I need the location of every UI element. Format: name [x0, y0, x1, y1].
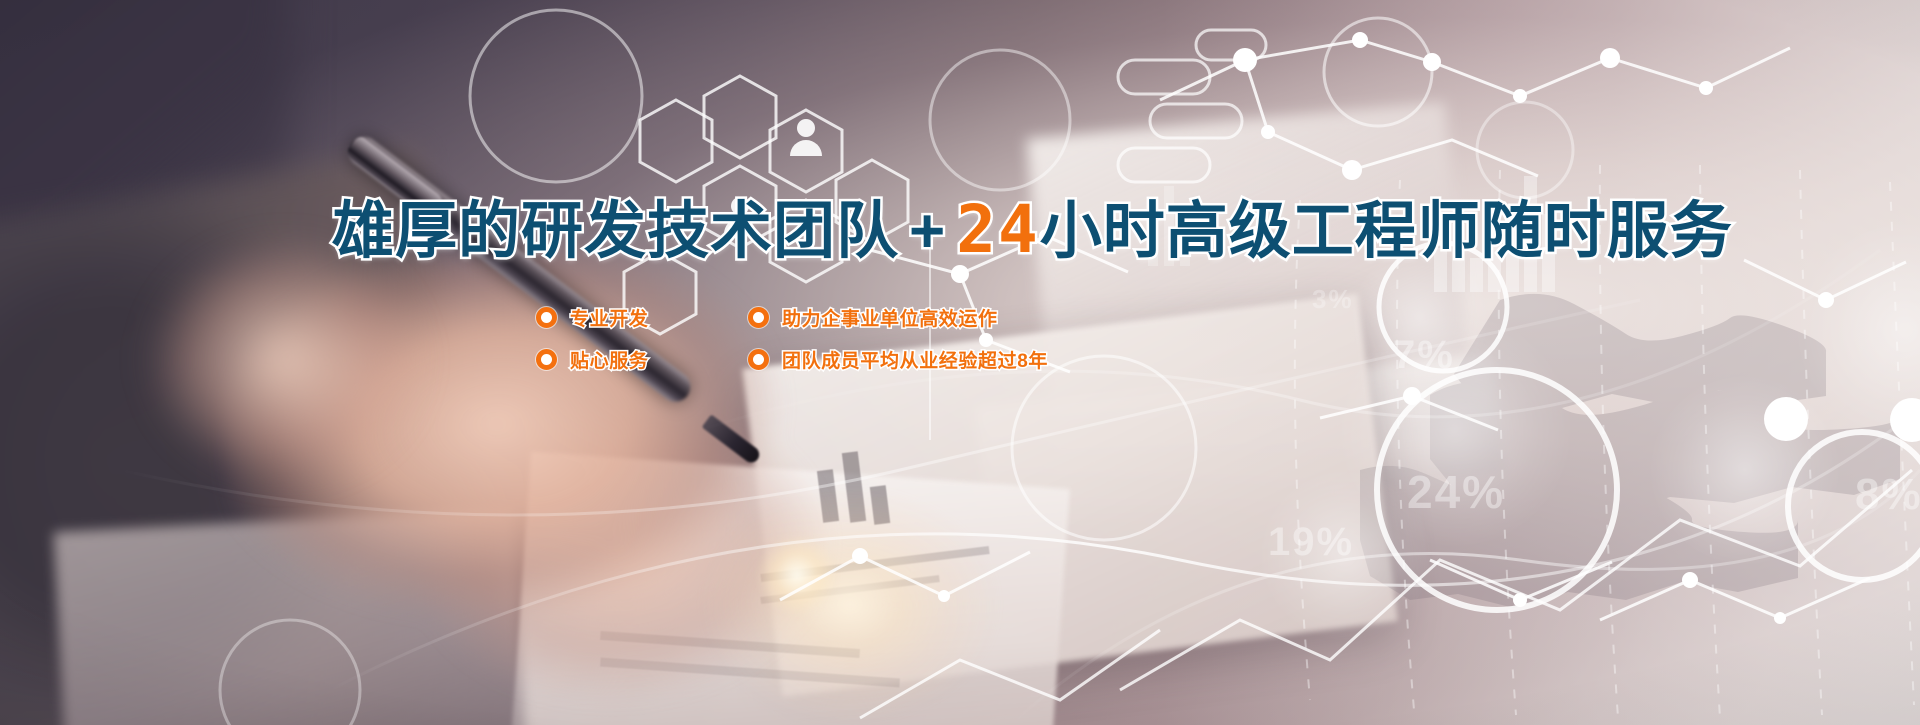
list-item: 助力企事业单位高效运作 — [748, 304, 1048, 331]
watermark-percent: 3% — [1312, 284, 1354, 315]
watermark-percent: 7% — [1393, 333, 1455, 378]
banner-content: 雄厚的研发技术团队+24小时高级工程师随时服务 专业开发 助力企事业单位高效运作… — [0, 0, 1920, 725]
watermark-percent: 8% — [1855, 470, 1920, 520]
watermark-percent: 24% — [1407, 465, 1505, 519]
feature-bullet-list: 专业开发 助力企事业单位高效运作 贴心服务 团队成员平均从业经验超过8年 — [536, 296, 1048, 380]
bullet-label: 贴心服务 — [570, 346, 648, 373]
ring-dot-icon — [748, 307, 769, 328]
bullet-label: 助力企事业单位高效运作 — [782, 304, 998, 331]
bullet-label: 团队成员平均从业经验超过8年 — [782, 346, 1048, 373]
hero-banner: 雄厚的研发技术团队+24小时高级工程师随时服务 专业开发 助力企事业单位高效运作… — [0, 0, 1920, 725]
headline-part-1: 雄厚的研发技术团队 — [332, 197, 899, 266]
ring-dot-icon — [536, 349, 557, 370]
headline-plus: + — [899, 197, 956, 266]
list-item: 贴心服务 — [536, 346, 748, 373]
list-item: 团队成员平均从业经验超过8年 — [748, 346, 1048, 373]
headline-part-2: 小时高级工程师随时服务 — [1040, 197, 1733, 266]
watermark-percent: 19% — [1268, 520, 1354, 565]
ring-dot-icon — [748, 349, 769, 370]
page-title: 雄厚的研发技术团队+24小时高级工程师随时服务 — [332, 193, 1733, 267]
ring-dot-icon — [536, 307, 557, 328]
list-item: 专业开发 — [536, 304, 748, 331]
headline-number: 24 — [956, 191, 1039, 268]
bullet-label: 专业开发 — [570, 304, 648, 331]
